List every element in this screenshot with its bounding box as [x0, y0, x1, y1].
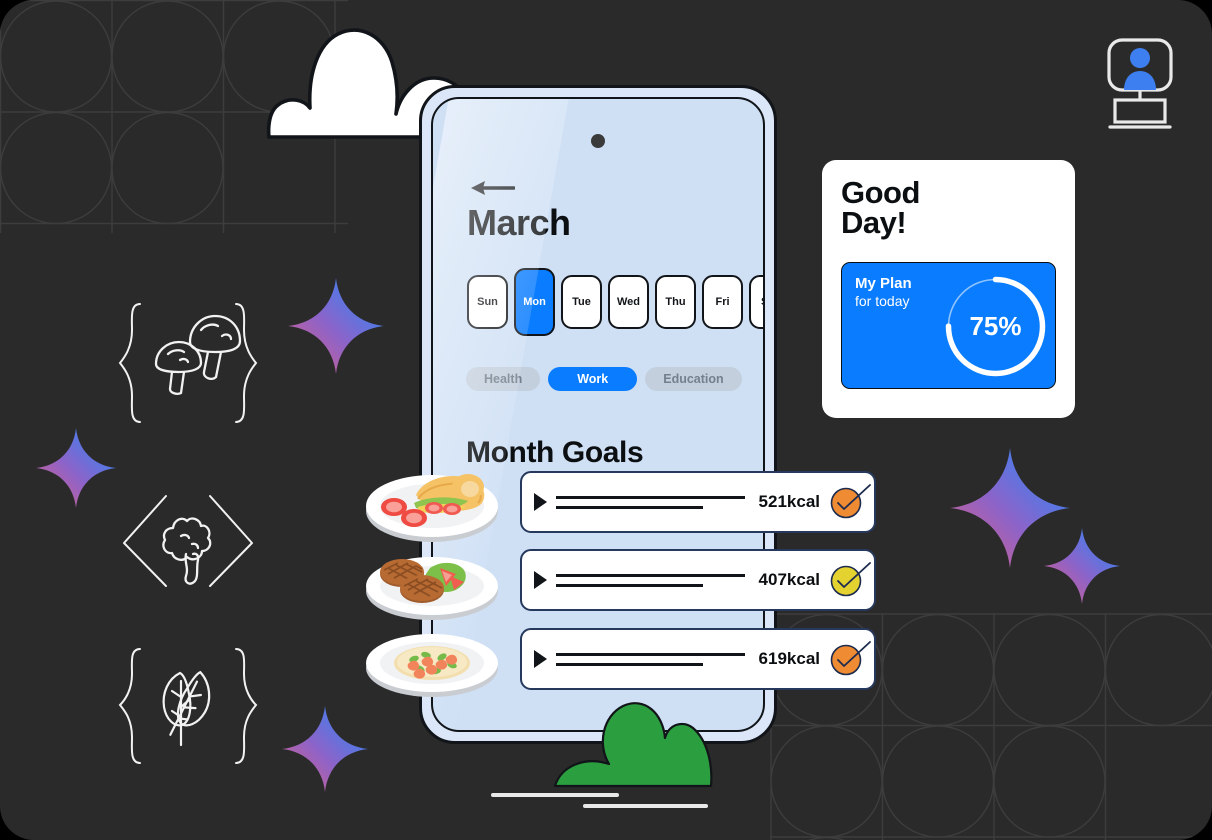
day-chip-wed[interactable]: Wed — [608, 275, 649, 329]
plan-label: My Plan for today — [855, 275, 912, 309]
goal-row[interactable]: 619kcal — [520, 628, 876, 690]
check-badge-icon[interactable] — [830, 644, 860, 674]
decor-line — [491, 793, 619, 797]
sparkle-star-icon — [36, 428, 116, 513]
poster-canvas: March Sun Mon Tue Wed Thu Fri Sat Health… — [0, 0, 1212, 840]
my-plan-widget[interactable]: My Plan for today 75% — [841, 262, 1056, 389]
goal-calories: 619kcal — [759, 649, 820, 669]
day-chip-sat[interactable]: Sat — [749, 275, 765, 329]
broccoli-icon — [118, 488, 258, 603]
plan-title: My Plan — [855, 275, 912, 293]
tab-education[interactable]: Education — [645, 367, 741, 391]
goal-text-placeholder — [556, 496, 745, 509]
goal-text-placeholder — [556, 574, 745, 587]
day-chip-sun[interactable]: Sun — [467, 275, 508, 329]
goal-card[interactable]: 619kcal — [520, 628, 876, 690]
sandwich-plate-icon — [364, 455, 500, 550]
tab-work[interactable]: Work — [548, 367, 637, 391]
goal-card[interactable]: 521kcal — [520, 471, 876, 533]
risotto-plate-icon — [364, 622, 500, 705]
mushrooms-icon — [118, 300, 258, 435]
category-filter-tabs[interactable]: Health Work Education — [466, 367, 742, 391]
tab-health[interactable]: Health — [466, 367, 540, 391]
check-badge-icon[interactable] — [830, 487, 860, 517]
goal-row[interactable]: 407kcal — [520, 549, 876, 611]
plan-subtitle: for today — [855, 293, 912, 310]
goal-text-placeholder — [556, 653, 745, 666]
play-triangle-icon — [534, 493, 547, 511]
goal-calories: 521kcal — [759, 492, 820, 512]
day-chip-fri[interactable]: Fri — [702, 275, 743, 329]
goal-card[interactable]: 407kcal — [520, 549, 876, 611]
goal-calories: 407kcal — [759, 570, 820, 590]
sparkle-star-icon — [282, 706, 368, 797]
back-arrow-icon[interactable] — [469, 179, 515, 202]
progress-percent: 75% — [942, 273, 1049, 380]
good-day-card: Good Day! My Plan for today 75% — [822, 160, 1075, 418]
check-badge-icon[interactable] — [830, 565, 860, 595]
day-chip-mon[interactable]: Mon — [514, 268, 555, 336]
day-chip-tue[interactable]: Tue — [561, 275, 602, 329]
play-triangle-icon — [534, 650, 547, 668]
video-monitor-person-icon[interactable] — [1104, 38, 1176, 135]
play-triangle-icon — [534, 571, 547, 589]
leafy-greens-icon — [118, 645, 258, 775]
sparkle-star-icon — [1044, 528, 1120, 609]
weekday-selector[interactable]: Sun Mon Tue Wed Thu Fri Sat — [467, 275, 765, 336]
sparkle-star-icon — [288, 278, 384, 379]
decor-line — [583, 804, 708, 808]
goal-row[interactable]: 521kcal — [520, 471, 876, 533]
page-title: March — [467, 202, 571, 244]
day-chip-thu[interactable]: Thu — [655, 275, 696, 329]
steak-plate-icon — [364, 538, 500, 627]
camera-dot-icon — [591, 134, 605, 148]
green-leaves-shape — [551, 694, 741, 795]
good-day-title: Good Day! — [841, 178, 1056, 239]
